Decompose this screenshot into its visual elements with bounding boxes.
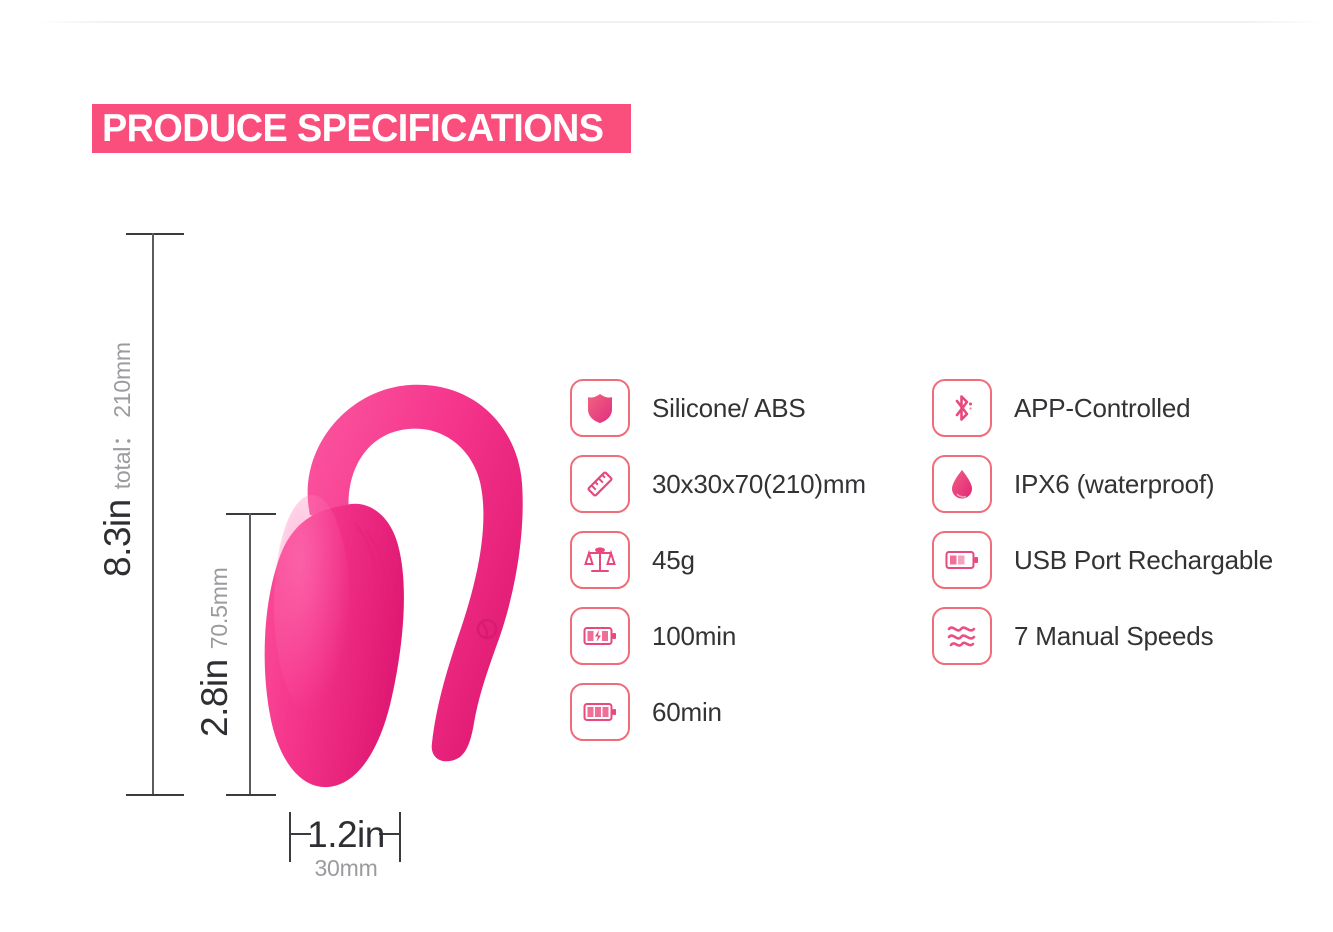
spec-row-run-time: 60min (570, 674, 866, 750)
width-dim-metric: 30mm (296, 857, 396, 880)
product-specifications-page: PRODUCE SPECIFICATIONS 8.3in total： 210m… (0, 0, 1333, 932)
spec-label-app-control: APP-Controlled (1014, 395, 1190, 421)
body-length-dim-metric: 70.5mm (208, 567, 231, 649)
page-title-banner: PRODUCE SPECIFICATIONS (92, 104, 631, 153)
product-image (250, 355, 550, 815)
height-dim-bottom-cap (126, 794, 184, 796)
spec-label-waterproof: IPX6 (waterproof) (1014, 471, 1214, 497)
shield-icon (570, 379, 630, 437)
spec-row-rechargeable: USB Port Rechargable (932, 522, 1273, 598)
width-dim-left-cap (289, 812, 291, 862)
height-dim-value: 8.3in (99, 499, 136, 577)
waves-icon (932, 607, 992, 665)
spec-label-material: Silicone/ ABS (652, 395, 806, 421)
page-title: PRODUCE SPECIFICATIONS (102, 109, 603, 148)
spec-column-left: Silicone/ ABS 30x30x70(210)mm (570, 370, 866, 750)
spec-row-size: 30x30x70(210)mm (570, 446, 866, 522)
spec-row-material: Silicone/ ABS (570, 370, 866, 446)
spec-label-speeds: 7 Manual Speeds (1014, 623, 1213, 649)
spec-label-weight: 45g (652, 547, 695, 573)
spec-label-rechargeable: USB Port Rechargable (1014, 547, 1273, 573)
width-dim-right-cap (399, 812, 401, 862)
top-divider (34, 21, 1325, 23)
ruler-icon (570, 455, 630, 513)
height-dim-top-cap (126, 233, 184, 235)
spec-label-run-time: 60min (652, 699, 722, 725)
spec-label-size: 30x30x70(210)mm (652, 471, 866, 497)
width-dim-label: 1.2in 30mm (296, 816, 396, 880)
body-length-dim-value: 2.8in (196, 659, 233, 737)
spec-row-weight: 45g (570, 522, 866, 598)
bluetooth-icon (932, 379, 992, 437)
battery-full-icon (570, 683, 630, 741)
width-dim-value: 1.2in (296, 816, 396, 853)
product-gloss (274, 495, 350, 715)
spec-column-right: APP-Controlled IPX6 (waterproof) (932, 370, 1273, 674)
battery-charging-icon (570, 607, 630, 665)
spec-row-app-control: APP-Controlled (932, 370, 1273, 446)
spec-row-charge-time: 100min (570, 598, 866, 674)
battery-half-icon (932, 531, 992, 589)
height-dim-metric: total： 210mm (111, 342, 134, 489)
spec-row-waterproof: IPX6 (waterproof) (932, 446, 1273, 522)
spec-row-speeds: 7 Manual Speeds (932, 598, 1273, 674)
spec-label-charge-time: 100min (652, 623, 736, 649)
body-length-dim-label: 2.8in 70.5mm (196, 567, 233, 737)
height-dim-line (152, 233, 154, 796)
balance-scale-icon (570, 531, 630, 589)
water-drop-icon (932, 455, 992, 513)
height-dim-label: 8.3in total： 210mm (99, 342, 136, 577)
